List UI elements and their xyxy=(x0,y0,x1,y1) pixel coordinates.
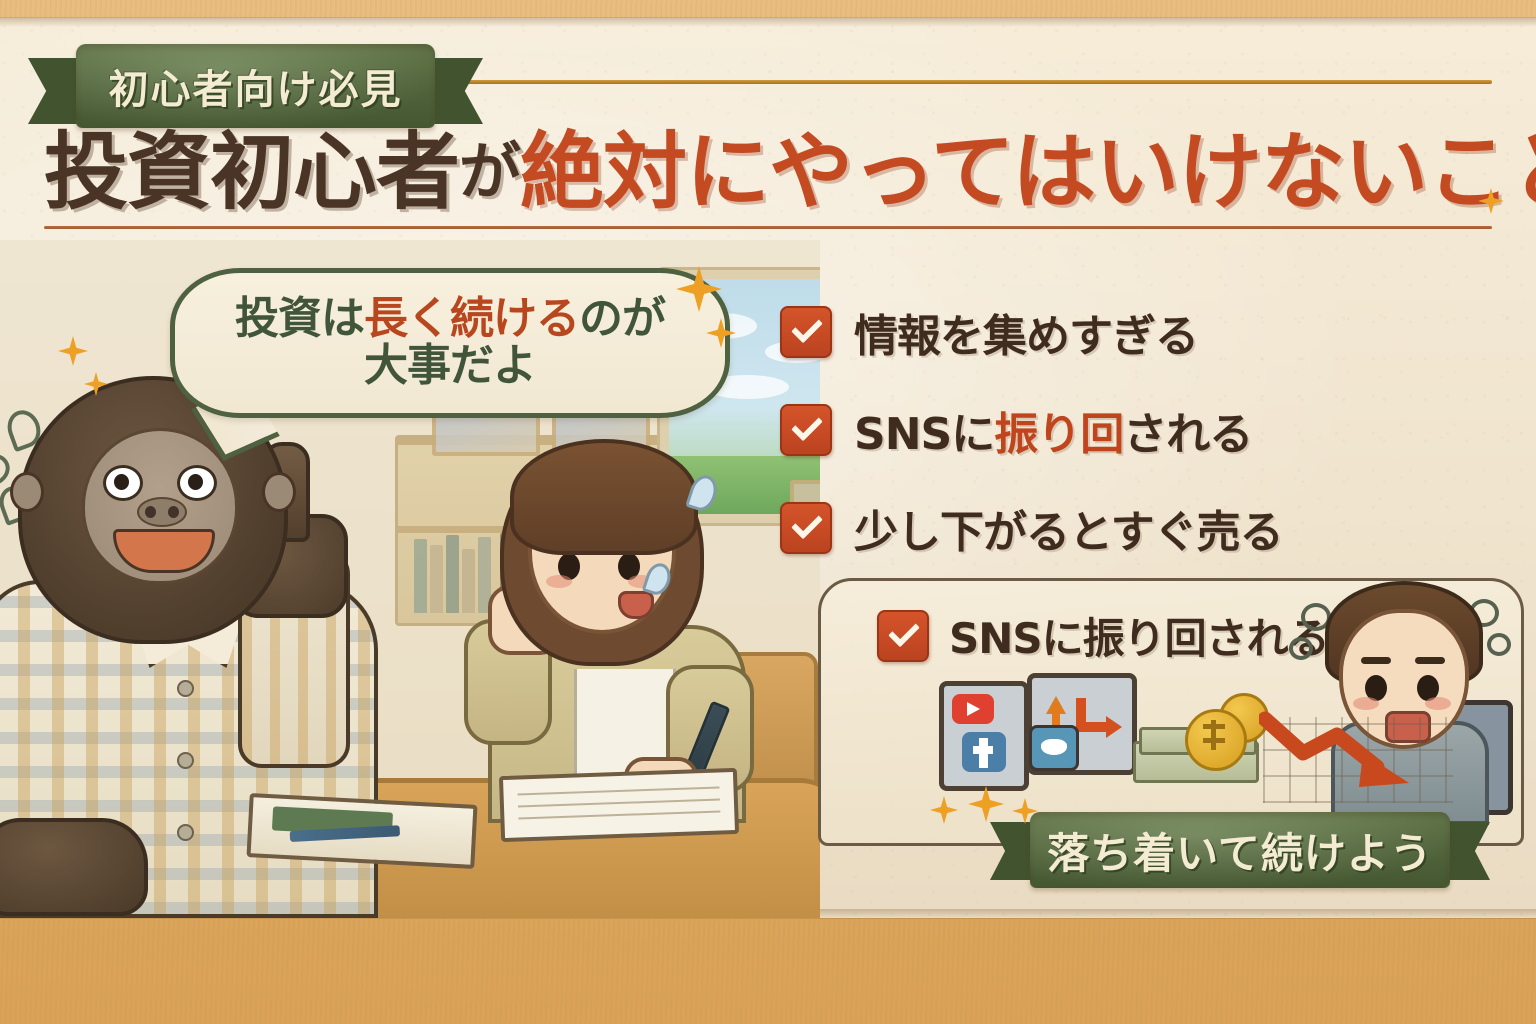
closed-notebook xyxy=(246,793,477,869)
title-segment-3: 絶対 xyxy=(520,130,686,214)
checklist-item-label: 情報を集めすぎる xyxy=(854,300,1198,364)
header: 初心者向け必見 投資初心者が絶対にやってはいけないこと xyxy=(0,18,1536,238)
title-segment-1: 投資初心者 xyxy=(44,130,459,214)
down-arrow-chart-icon xyxy=(1259,709,1449,789)
page-title: 投資初心者が絶対にやってはいけないこと xyxy=(44,123,1506,221)
twitter-icon xyxy=(1029,725,1079,771)
speech-bubble-line-2: 大事だよ xyxy=(364,343,536,390)
gorilla-eye-left xyxy=(103,465,143,501)
youtube-icon xyxy=(952,694,994,724)
checklist-item[interactable]: SNSに振り回される xyxy=(780,398,1340,462)
gorilla-mouth xyxy=(113,529,215,573)
check-icon[interactable] xyxy=(780,502,832,554)
gorilla-ear-right xyxy=(262,472,296,512)
tablet-device xyxy=(939,681,1029,791)
checklist-item-label: 少し下がるとすぐ売る xyxy=(854,496,1283,560)
boy-brow-right xyxy=(1415,657,1445,664)
open-notebook xyxy=(499,768,739,842)
checklist: 情報を集めすぎる SNSに振り回される 少し下がるとすぐ売る xyxy=(780,300,1340,594)
boy-brow-left xyxy=(1361,657,1391,664)
speech-bubble: 投資は長く続けるのが 大事だよ xyxy=(170,268,730,418)
bottom-ribbon-label: 落ち着いて続けよう xyxy=(1030,812,1450,888)
title-segment-2: が xyxy=(459,141,520,203)
woman-mouth xyxy=(618,591,654,619)
sns-panel-header: SNSに振り回される xyxy=(877,605,1329,666)
title-segment-4: にやってはいけないこと xyxy=(686,130,1536,214)
checklist-item[interactable]: 情報を集めすぎる xyxy=(780,300,1340,364)
woman-blush-left xyxy=(546,575,572,588)
think-bubble-4 xyxy=(1487,633,1511,656)
gorilla-hand xyxy=(0,818,148,916)
checklist-item-label: SNSに振り回される xyxy=(854,398,1252,462)
speech-bubble-line-1: 投資は長く続けるのが xyxy=(235,296,665,343)
header-ribbon-label: 初心者向け必見 xyxy=(76,44,435,128)
coin-yen-icon xyxy=(1185,709,1247,771)
header-bottom-rule xyxy=(44,226,1492,229)
sns-panel-heading: SNSに振り回される xyxy=(949,605,1329,666)
bottom-ribbon: 落ち着いて続けよう xyxy=(990,812,1490,892)
worried-boy-character xyxy=(1283,575,1513,825)
woman-character xyxy=(470,433,750,823)
sns-panel: SNSに振り回される xyxy=(818,578,1524,846)
check-icon[interactable] xyxy=(877,610,929,662)
check-icon[interactable] xyxy=(780,404,832,456)
woman-hair xyxy=(510,439,698,555)
infographic-poster: 初心者向け必見 投資初心者が絶対にやってはいけないこと xyxy=(0,0,1536,1024)
gorilla-nose xyxy=(137,497,187,527)
checklist-item[interactable]: 少し下がるとすぐ売る xyxy=(780,496,1340,560)
facebook-icon xyxy=(962,732,1006,772)
header-gold-rule xyxy=(430,80,1492,84)
gorilla-ear-left xyxy=(10,472,44,512)
gorilla-eye-right xyxy=(177,465,217,501)
header-ribbon: 初心者向け必見 xyxy=(28,44,483,132)
check-icon[interactable] xyxy=(780,306,832,358)
gorilla-face xyxy=(82,428,238,584)
think-bubble-2 xyxy=(1289,637,1313,660)
